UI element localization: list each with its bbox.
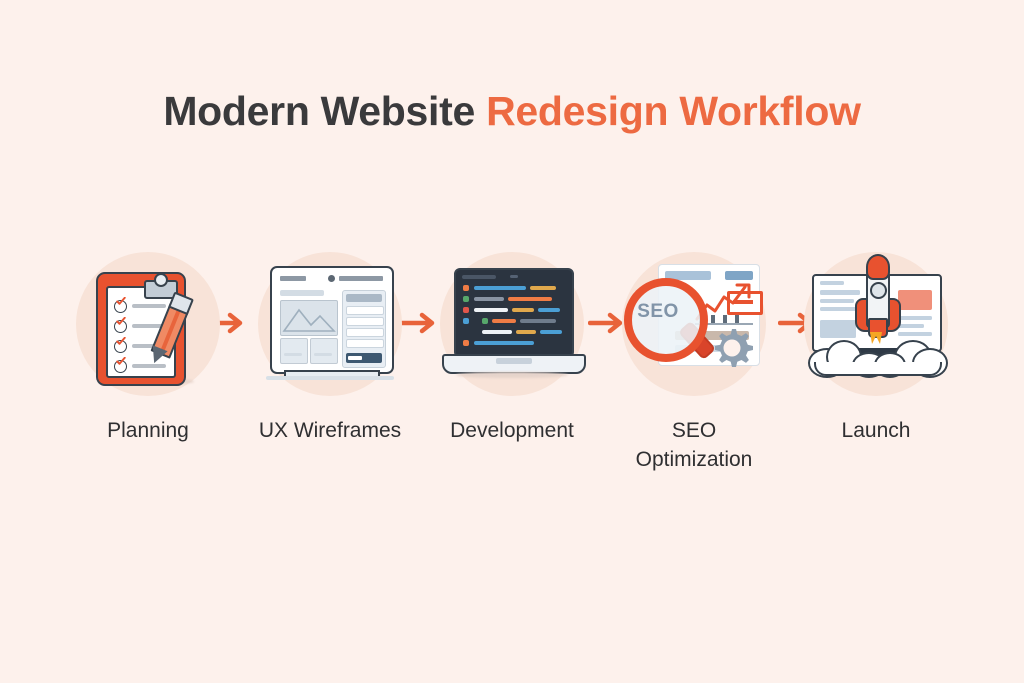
wireframe-icon-wrap (244, 238, 416, 410)
workflow-step-planning[interactable]: Planning (62, 238, 234, 445)
workflow-step-development[interactable]: Development (426, 238, 598, 445)
rocket-launch-laptop-icon (806, 258, 946, 390)
step-label-launch: Launch (842, 416, 911, 445)
infographic-canvas: Modern Website Redesign Workflow (0, 0, 1024, 683)
step-label-seo-optimization: SEO Optimization (636, 416, 753, 474)
step-label-planning: Planning (107, 416, 189, 445)
smoke-cloud (806, 336, 946, 376)
planning-icon-wrap (62, 238, 234, 410)
seo-lens-text: SEO (624, 278, 692, 346)
workflow-step-seo-optimization[interactable]: SEO SEO Optimization (608, 238, 780, 474)
code-editor-laptop-icon (442, 258, 582, 390)
workflow-steps: Planning (62, 238, 962, 498)
workflow-step-ux-wireframes[interactable]: UX Wireframes (244, 238, 416, 445)
gear-icon (710, 326, 754, 370)
wireframe-tablet-icon (260, 258, 400, 390)
workflow-step-launch[interactable]: Launch (790, 238, 962, 445)
launch-icon-wrap (790, 238, 962, 410)
seo-magnifier-gear-icon: SEO (624, 258, 764, 390)
clipboard-checklist-pencil-icon (78, 258, 218, 390)
step-label-ux-wireframes: UX Wireframes (259, 416, 401, 445)
step-label-development: Development (450, 416, 574, 445)
seo-icon-wrap: SEO (608, 238, 780, 410)
development-icon-wrap (426, 238, 598, 410)
title-primary: Modern Website (163, 88, 475, 134)
title-accent: Redesign Workflow (486, 88, 861, 134)
magnifier-icon: SEO (624, 278, 702, 356)
page-title: Modern Website Redesign Workflow (0, 88, 1024, 135)
